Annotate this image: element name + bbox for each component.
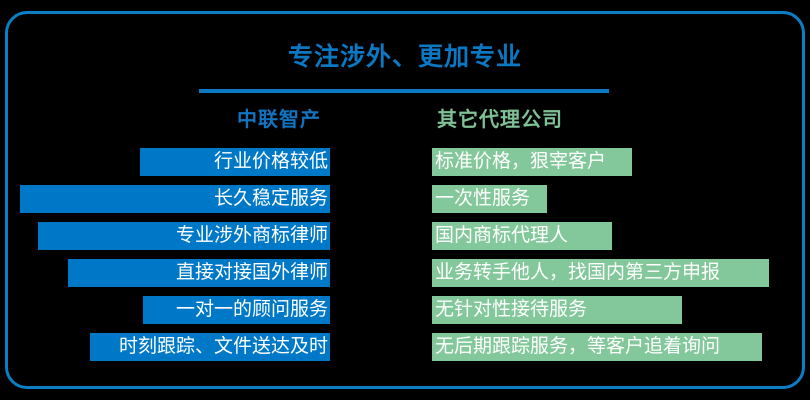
left-column-rows: 行业价格较低长久稳定服务专业涉外商标律师直接对接国外律师一对一的顾问服务时刻跟踪… xyxy=(0,148,330,370)
competitor-bar-right: 标准价格，狠宰客户 xyxy=(432,148,632,176)
table-row: 业务转手他人，找国内第三方申报 xyxy=(432,259,810,287)
table-row: 无后期跟踪服务，等客户追着询问 xyxy=(432,333,810,361)
right-column-rows: 标准价格，狠宰客户一次性服务国内商标代理人业务转手他人，找国内第三方申报无针对性… xyxy=(432,148,810,370)
table-row: 专业涉外商标律师 xyxy=(0,222,330,250)
advantage-bar-left: 专业涉外商标律师 xyxy=(38,222,330,250)
advantage-bar-left: 直接对接国外律师 xyxy=(68,259,330,287)
competitor-bar-right: 国内商标代理人 xyxy=(432,222,612,250)
title-divider-rule xyxy=(199,89,609,93)
table-row: 标准价格，狠宰客户 xyxy=(432,148,810,176)
page-title: 专注涉外、更加专业 xyxy=(0,42,810,72)
competitor-bar-right: 一次性服务 xyxy=(432,185,547,213)
competitor-bar-right: 无后期跟踪服务，等客户追着询问 xyxy=(432,333,762,361)
table-row: 长久稳定服务 xyxy=(0,185,330,213)
competitor-bar-right: 业务转手他人，找国内第三方申报 xyxy=(432,259,769,287)
advantage-bar-left: 行业价格较低 xyxy=(140,148,330,176)
table-row: 时刻跟踪、文件送达及时 xyxy=(0,333,330,361)
competitor-bar-right: 无针对性接待服务 xyxy=(432,296,682,324)
table-row: 无针对性接待服务 xyxy=(432,296,810,324)
table-row: 国内商标代理人 xyxy=(432,222,810,250)
advantage-bar-left: 一对一的顾问服务 xyxy=(143,296,330,324)
comparison-infographic: 专注涉外、更加专业 中联智产 其它代理公司 行业价格较低长久稳定服务专业涉外商标… xyxy=(0,0,810,400)
table-row: 行业价格较低 xyxy=(0,148,330,176)
column-header-left: 中联智产 xyxy=(237,107,321,133)
column-header-right: 其它代理公司 xyxy=(437,107,563,133)
table-row: 直接对接国外律师 xyxy=(0,259,330,287)
advantage-bar-left: 时刻跟踪、文件送达及时 xyxy=(90,333,330,361)
table-row: 一对一的顾问服务 xyxy=(0,296,330,324)
advantage-bar-left: 长久稳定服务 xyxy=(20,185,330,213)
table-row: 一次性服务 xyxy=(432,185,810,213)
